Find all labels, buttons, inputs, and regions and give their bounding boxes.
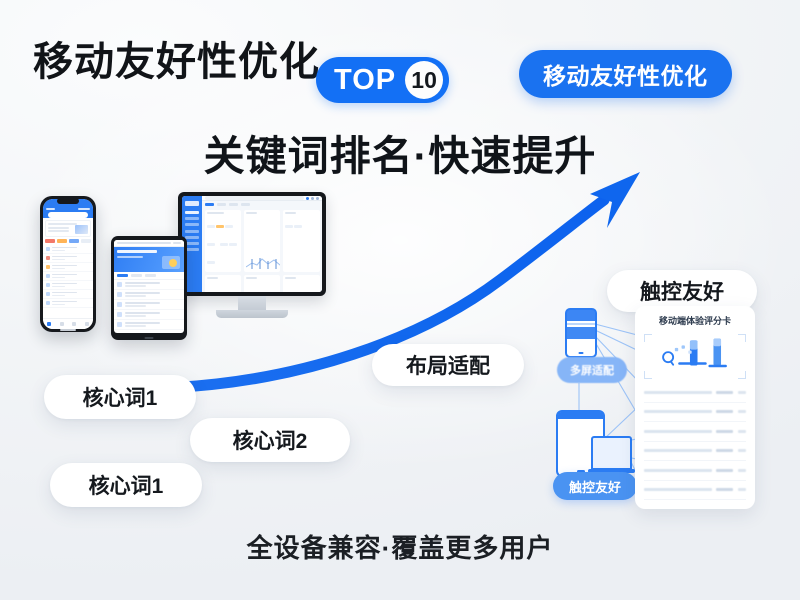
phone-search-field xyxy=(48,212,88,218)
dashboard-card-donut xyxy=(283,275,320,293)
dashboard-cards xyxy=(202,207,322,292)
smartphone-mockup xyxy=(40,196,96,332)
dashboard-card-chart xyxy=(205,275,242,293)
tablet-mockup xyxy=(111,236,187,340)
poster-canvas: 移动友好性优化 TOP 10 移动友好性优化 关键词排名·快速提升 全设备兼容·… xyxy=(0,0,800,600)
header-tag-pill: 移动友好性优化 xyxy=(519,50,732,98)
keyword-pill-2: 核心词2 xyxy=(190,418,350,462)
table-row xyxy=(644,422,746,442)
device-cluster xyxy=(28,192,328,392)
tablet-hero-banner xyxy=(114,247,184,272)
keyword-pill-3: 核心词1 xyxy=(50,463,202,507)
diagram-node-multiscreen: 多屏适配 xyxy=(557,357,627,383)
mobile-phone-icon xyxy=(565,308,597,358)
dashboard-card xyxy=(205,210,242,273)
score-card-title: 移动端体验评分卡 xyxy=(635,314,755,327)
score-card-chart xyxy=(644,334,746,379)
phone-promo-card xyxy=(45,220,91,237)
dashboard-card-chart xyxy=(244,275,281,293)
desktop-monitor-mockup xyxy=(178,192,326,324)
laptop-icon xyxy=(591,436,632,470)
table-row xyxy=(644,403,746,423)
score-card: 移动端体验评分卡 xyxy=(635,306,755,509)
table-row xyxy=(644,481,746,501)
phone-notch xyxy=(57,198,79,204)
feature-pill-layout: 布局适配 xyxy=(372,344,524,386)
dashboard-card xyxy=(244,210,281,273)
footer-tagline: 全设备兼容·覆盖更多用户 xyxy=(0,528,800,565)
keyword-pill-1: 核心词1 xyxy=(44,375,196,419)
table-row xyxy=(644,461,746,481)
dashboard-search-field xyxy=(205,196,304,200)
top-rank-badge: TOP 10 xyxy=(316,57,449,103)
score-card-table xyxy=(644,383,746,500)
mobile-experience-diagram: 多屏适配 触控友好 移动端体验评分卡 xyxy=(551,300,783,515)
top-rank-number: 10 xyxy=(405,61,443,99)
diagram-node-touch: 触控友好 xyxy=(553,472,637,500)
table-row xyxy=(644,442,746,462)
page-title: 移动友好性优化 xyxy=(33,29,320,87)
top-rank-word: TOP xyxy=(334,64,396,97)
dashboard-card xyxy=(283,210,320,273)
phone-tabbar xyxy=(43,318,93,329)
table-row xyxy=(644,383,746,403)
desktop-screen xyxy=(178,192,326,296)
